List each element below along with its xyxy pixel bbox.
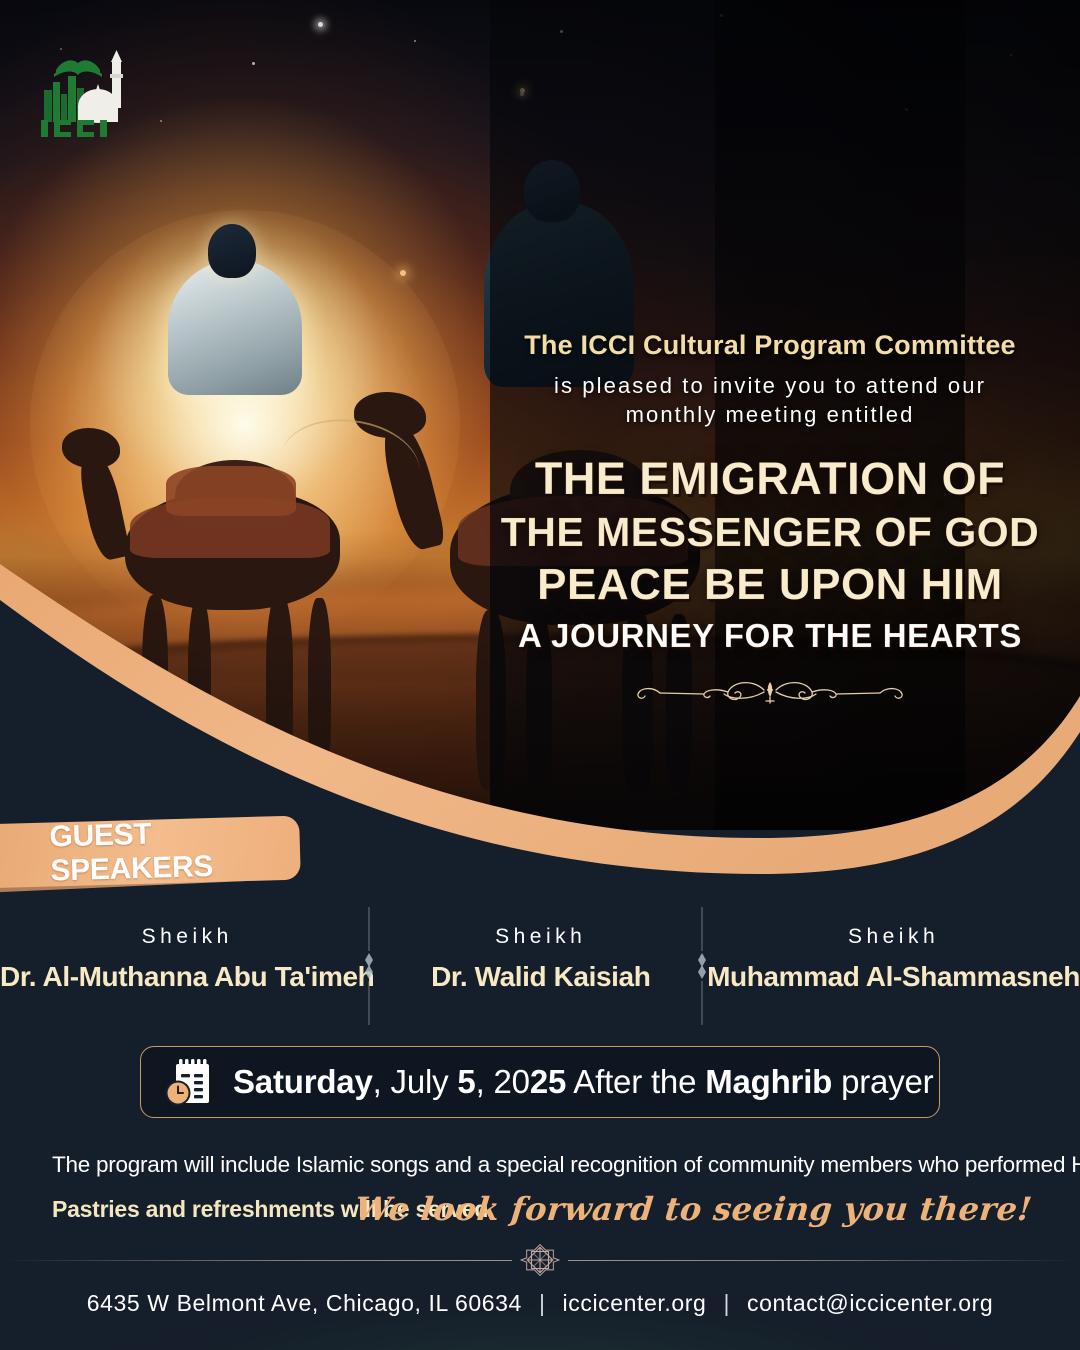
program-note-line1: The program will include Islamic songs a… <box>52 1152 1042 1178</box>
date-daynumber: 5 <box>457 1063 475 1100</box>
speaker-item: Sheikh Muhammad Al-Shammasneh <box>707 925 1080 993</box>
date-text: Saturday, July 5, 2025 After the Maghrib… <box>233 1063 933 1101</box>
speaker-item: Sheikh Dr. Al-Muthanna Abu Ta'imeh <box>0 925 374 993</box>
date-day: Saturday <box>233 1063 373 1100</box>
title-line-4: A JOURNEY FOR THE HEARTS <box>500 619 1040 654</box>
date-prayer: Maghrib <box>705 1063 832 1100</box>
ornamental-flourish-divider-icon <box>620 670 920 710</box>
date-after: After the <box>566 1063 705 1100</box>
date-prayer-suffix: prayer <box>832 1063 933 1100</box>
speaker-item: Sheikh Dr. Walid Kaisiah <box>374 925 707 993</box>
invite-subtitle-line1: is pleased to invite you to attend our <box>500 371 1040 400</box>
footer-website[interactable]: iccicenter.org <box>563 1290 707 1316</box>
speaker-role: Sheikh <box>374 925 707 949</box>
footer-contact-bar: 6435 W Belmont Ave, Chicago, IL 60634 | … <box>0 1290 1080 1317</box>
footer-glow <box>0 1220 1080 1350</box>
speaker-name: Dr. Al-Muthanna Abu Ta'imeh <box>0 961 374 993</box>
speaker-role: Sheikh <box>0 925 374 949</box>
guest-speakers-label: GUEST SPEAKERS <box>49 814 301 889</box>
date-yearsuffix: 25 <box>530 1063 566 1100</box>
mosque-dome-skyline-book-logo-icon <box>32 32 132 137</box>
title-line-1: THE EMIGRATION OF <box>500 455 1040 503</box>
date-time-bar: Saturday, July 5, 2025 After the Maghrib… <box>140 1046 940 1118</box>
speaker-role: Sheikh <box>707 925 1080 949</box>
icci-logo[interactable] <box>32 32 132 137</box>
invite-subtitle: is pleased to invite you to attend our m… <box>500 371 1040 429</box>
speaker-name: Muhammad Al-Shammasneh <box>707 961 1080 993</box>
invite-subtitle-line2: monthly meeting entitled <box>500 400 1040 429</box>
footer-email[interactable]: contact@iccicenter.org <box>747 1290 993 1316</box>
committee-kicker: The ICCI Cultural Program Committee <box>500 330 1040 361</box>
guest-speakers-tag: GUEST SPEAKERS <box>0 816 301 889</box>
speaker-name: Dr. Walid Kaisiah <box>374 961 707 993</box>
hero-text-block: The ICCI Cultural Program Committee is p… <box>500 330 1040 710</box>
event-poster: The ICCI Cultural Program Committee is p… <box>0 0 1080 1350</box>
footer-separator-1: | <box>539 1290 546 1316</box>
footer-address: 6435 W Belmont Ave, Chicago, IL 60634 <box>87 1290 522 1316</box>
speakers-list: Sheikh Dr. Al-Muthanna Abu Ta'imeh Sheik… <box>0 925 1080 993</box>
date-yearprefix: , 20 <box>476 1063 530 1100</box>
title-line-3: PEACE BE UPON HIM <box>500 562 1040 609</box>
footer-separator-2: | <box>723 1290 730 1316</box>
calendar-clock-icon <box>163 1055 217 1109</box>
date-month: , July <box>373 1063 458 1100</box>
title-line-2: THE MESSENGER OF GOD <box>500 511 1040 554</box>
